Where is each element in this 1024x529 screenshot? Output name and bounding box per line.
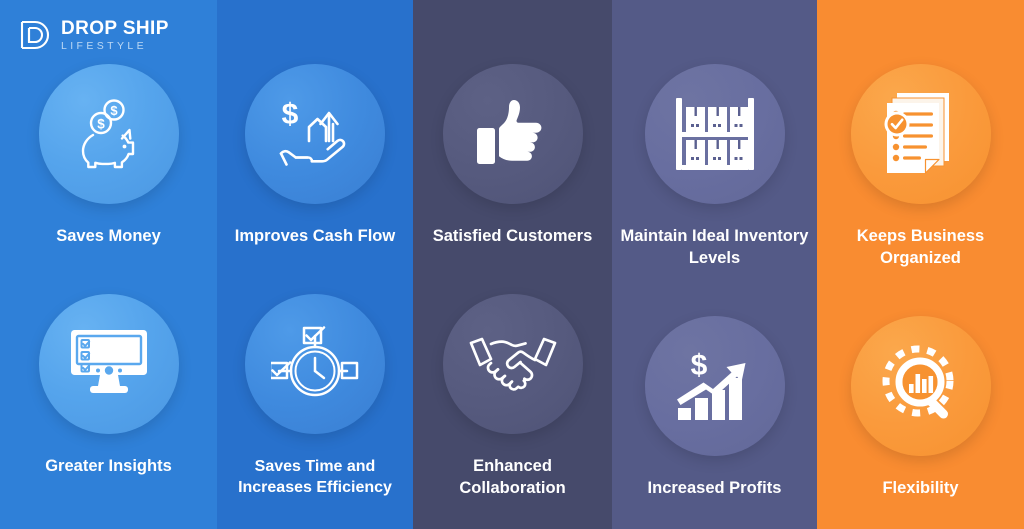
brand-tagline: LIFESTYLE <box>61 41 169 52</box>
feature-label: Greater Insights <box>39 456 178 478</box>
brand-logo: DROP SHIP LIFESTYLE <box>18 18 169 52</box>
brand-name: DROP SHIP <box>61 19 169 38</box>
column-1: $ $ Saves Money <box>0 0 217 529</box>
svg-text:$: $ <box>282 98 299 131</box>
column-2: $ Improves Cash Flow <box>217 0 413 529</box>
infographic-root: DROP SHIP LIFESTYLE $ $ Saves Money <box>0 0 1024 529</box>
feature-label: Keeps Business Organized <box>817 226 1024 270</box>
feature-enhanced-collaboration[interactable]: Enhanced Collaboration <box>413 294 612 500</box>
warehouse-shelf-boxes-icon <box>645 64 785 204</box>
monitor-checklist-icon <box>39 294 179 434</box>
piggy-bank-coins-icon: $ $ <box>39 64 179 204</box>
feature-label: Satisfied Customers <box>427 226 599 248</box>
feature-label: Flexibility <box>876 478 964 500</box>
feature-keeps-business-organized[interactable]: Keeps Business Organized <box>817 64 1024 270</box>
feature-label: Saves Time and Increases Efficiency <box>217 456 413 498</box>
feature-inventory-levels[interactable]: Maintain Ideal Inventory Levels <box>612 64 817 270</box>
svg-text:$: $ <box>97 117 105 132</box>
svg-text:$: $ <box>110 103 118 118</box>
feature-increased-profits[interactable]: $ Increased Profits <box>612 316 817 500</box>
feature-label: Increased Profits <box>642 478 788 500</box>
bar-chart-dollar-arrow-icon: $ <box>645 316 785 456</box>
feature-flexibility[interactable]: Flexibility <box>817 316 1024 500</box>
feature-satisfied-customers[interactable]: Satisfied Customers <box>413 64 612 248</box>
feature-greater-insights[interactable]: Greater Insights <box>0 294 217 478</box>
feature-improves-cash-flow[interactable]: $ Improves Cash Flow <box>217 64 413 248</box>
hand-dollar-growth-arrow-icon: $ <box>245 64 385 204</box>
handshake-icon <box>443 294 583 434</box>
feature-saves-money[interactable]: $ $ Saves Money <box>0 64 217 248</box>
document-checklist-stack-icon <box>851 64 991 204</box>
magnifier-bar-chart-icon <box>851 316 991 456</box>
feature-label: Enhanced Collaboration <box>413 456 612 500</box>
feature-saves-time[interactable]: Saves Time and Increases Efficiency <box>217 294 413 498</box>
column-4: Maintain Ideal Inventory Levels $ Increa… <box>612 0 817 529</box>
dsl-monogram-icon <box>18 18 52 52</box>
feature-label: Maintain Ideal Inventory Levels <box>612 226 817 270</box>
thumbs-up-icon <box>443 64 583 204</box>
column-5: Keeps Business Organized Flexibili <box>817 0 1024 529</box>
feature-label: Saves Money <box>50 226 167 248</box>
clock-checkbox-icon <box>245 294 385 434</box>
svg-text:$: $ <box>690 349 707 382</box>
feature-label: Improves Cash Flow <box>229 226 401 248</box>
column-3: Satisfied Customers Enhanced Collaborati… <box>413 0 612 529</box>
brand-wordmark: DROP SHIP LIFESTYLE <box>61 19 169 52</box>
